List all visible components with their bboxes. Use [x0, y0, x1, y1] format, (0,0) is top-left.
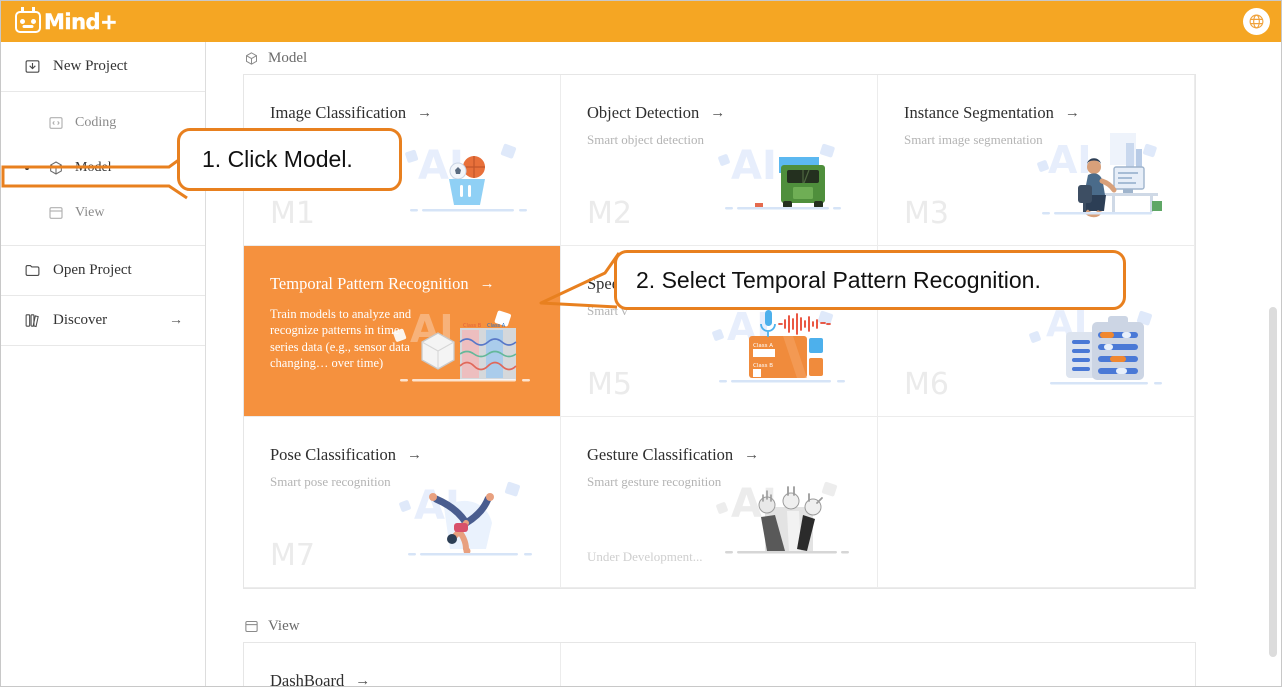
section-heading-label: View — [268, 618, 300, 635]
data-sliders-illustration: AI — [1026, 294, 1176, 402]
svg-text:Class A: Class A — [753, 343, 773, 349]
card-description: Train models to analyze and recognize pa… — [270, 306, 420, 371]
view-grid-empty-cell-2 — [878, 643, 1195, 687]
card-title-row: Pose Classification → — [270, 445, 560, 465]
arrow-right-icon: → — [744, 447, 759, 464]
sidebar-item-label: Open Project — [53, 262, 132, 279]
callout-click-model: 1. Click Model. — [177, 128, 402, 191]
window-panel-icon — [47, 204, 64, 221]
app-name: Mind+ — [44, 10, 117, 34]
view-card-dashboard[interactable]: DashBoard → — [244, 643, 561, 687]
sidebar: New Project Coding — [1, 42, 206, 687]
card-title-row: Temporal Pattern Recognition → — [270, 274, 560, 294]
svg-text:AI: AI — [731, 143, 777, 189]
card-code: M3 — [904, 196, 949, 231]
arrow-right-icon: → — [417, 105, 432, 122]
svg-text:Class B: Class B — [753, 363, 773, 369]
sidebar-item-label: View — [75, 205, 104, 221]
new-project-icon — [23, 58, 41, 76]
card-description: Smart image segmentation — [904, 131, 1194, 150]
code-brackets-icon — [47, 114, 64, 131]
chevron-right-icon: → — [169, 313, 183, 329]
arrow-right-icon: → — [480, 276, 495, 293]
section-heading-label: Model — [268, 50, 307, 67]
svg-text:Class B: Class B — [463, 323, 482, 329]
model-card-gesture-classification[interactable]: Gesture Classification → Smart gesture r… — [561, 417, 878, 588]
sidebar-item-new-project[interactable]: New Project — [1, 42, 205, 92]
basket-balls-illustration: AI — [392, 123, 542, 231]
svg-text:Class A: Class A — [487, 323, 506, 329]
sidebar-item-coding[interactable]: Coding — [1, 100, 205, 145]
card-description: Smart object detection — [587, 131, 877, 150]
window-panel-icon — [243, 618, 259, 634]
card-title: Temporal Pattern Recognition — [270, 274, 469, 294]
model-card-object-detection[interactable]: Object Detection → Smart object detectio… — [561, 75, 878, 246]
card-title-row: Instance Segmentation → — [904, 103, 1194, 123]
card-description: Smart gesture recognition — [587, 473, 877, 492]
card-title-row: Image Classification → — [270, 103, 560, 123]
view-grid-empty-cell-1 — [561, 643, 878, 687]
model-card-pose-classification[interactable]: Pose Classification → Smart pose recogni… — [244, 417, 561, 588]
card-code: M6 — [904, 367, 949, 402]
arrow-right-icon: → — [355, 673, 370, 687]
arrow-right-icon: → — [407, 447, 422, 464]
model-grid-empty-cell — [878, 417, 1195, 588]
card-title-row: DashBoard → — [270, 671, 560, 687]
card-code: M2 — [587, 196, 632, 231]
app-logo: Mind+ — [15, 10, 117, 34]
sidebar-item-label: New Project — [53, 58, 128, 75]
vertical-scrollbar-thumb[interactable] — [1269, 307, 1277, 657]
card-title: DashBoard — [270, 671, 344, 687]
card-title: Image Classification — [270, 103, 406, 123]
card-title-row: Gesture Classification → — [587, 445, 877, 465]
card-code: M1 — [270, 196, 315, 231]
card-title: Object Detection — [587, 103, 699, 123]
model-card-temporal-pattern-recognition[interactable]: Temporal Pattern Recognition → Train mod… — [244, 246, 561, 417]
mindplus-window: Mind+ New Project — [0, 0, 1282, 687]
cube-icon — [243, 50, 259, 66]
callout-select-temporal-pattern-recognition: 2. Select Temporal Pattern Recognition. — [614, 250, 1126, 310]
title-bar: Mind+ — [1, 1, 1282, 42]
globe-language-icon[interactable] — [1243, 8, 1270, 35]
card-title: Pose Classification — [270, 445, 396, 465]
card-title: Instance Segmentation — [904, 103, 1054, 123]
sidebar-item-label: Discover — [53, 312, 107, 329]
discover-icon — [23, 312, 41, 330]
callout-text: 1. Click Model. — [202, 146, 353, 173]
model-card-instance-segmentation[interactable]: Instance Segmentation → Smart image segm… — [878, 75, 1195, 246]
section-heading-view: View — [243, 610, 1282, 642]
section-heading-model: Model — [243, 42, 1282, 74]
robot-icon — [15, 11, 41, 33]
folder-open-icon — [23, 262, 41, 280]
arrow-right-icon: → — [710, 105, 725, 122]
card-description: Smart pose recognition — [270, 473, 560, 492]
card-title-row: Object Detection → — [587, 103, 877, 123]
sidebar-item-label: Coding — [75, 115, 116, 131]
callout-text: 2. Select Temporal Pattern Recognition. — [636, 267, 1041, 294]
sidebar-item-open-project[interactable]: Open Project — [1, 246, 205, 296]
view-card-grid: DashBoard → — [243, 642, 1196, 687]
sidebar-item-discover[interactable]: Discover → — [1, 296, 205, 346]
card-code: M7 — [270, 538, 315, 573]
card-status-badge: Under Development... — [587, 549, 703, 565]
arrow-right-icon: → — [1065, 105, 1080, 122]
card-code: M5 — [587, 367, 632, 402]
card-title: Gesture Classification — [587, 445, 733, 465]
vertical-scrollbar-track[interactable] — [1267, 42, 1280, 687]
